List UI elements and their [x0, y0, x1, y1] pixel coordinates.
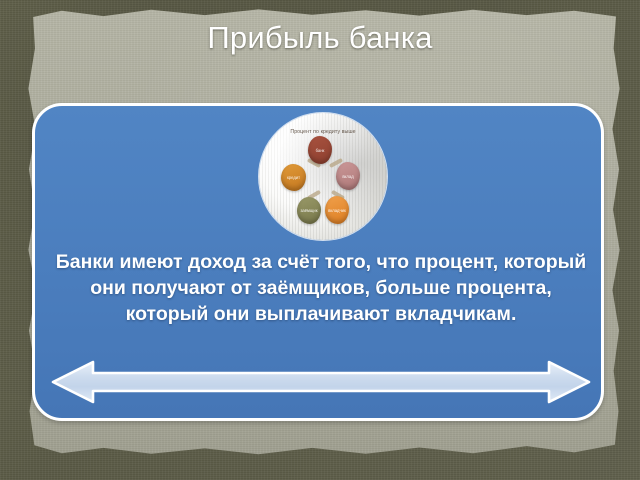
body-paragraph: Банки имеют доход за счёт того, что проц… — [51, 249, 591, 327]
diagram-caption: Процент по кредиту выше — [259, 129, 387, 136]
embedded-diagram-image: Процент по кредиту выше банк кредит вкла… — [259, 113, 387, 240]
double-headed-arrow — [49, 359, 593, 405]
diagram-node-label: вклад — [336, 174, 360, 179]
diagram-node: заёмщик — [297, 197, 321, 224]
diagram-node-label: кредит — [281, 175, 306, 180]
diagram-node: кредит — [281, 164, 306, 191]
page-title: Прибыль банка — [0, 18, 640, 58]
diagram-node-label: банк — [308, 148, 332, 153]
slide-canvas: Прибыль банка Процент по кредиту выше ба… — [0, 0, 640, 480]
diagram-node-label: вкладчик — [325, 208, 349, 213]
diagram-node: банк — [308, 136, 332, 164]
diagram-node: вкладчик — [325, 196, 349, 224]
diagram-node: вклад — [336, 162, 360, 190]
diagram-node-label: заёмщик — [297, 208, 321, 213]
content-card: Процент по кредиту выше банк кредит вкла… — [32, 103, 604, 421]
